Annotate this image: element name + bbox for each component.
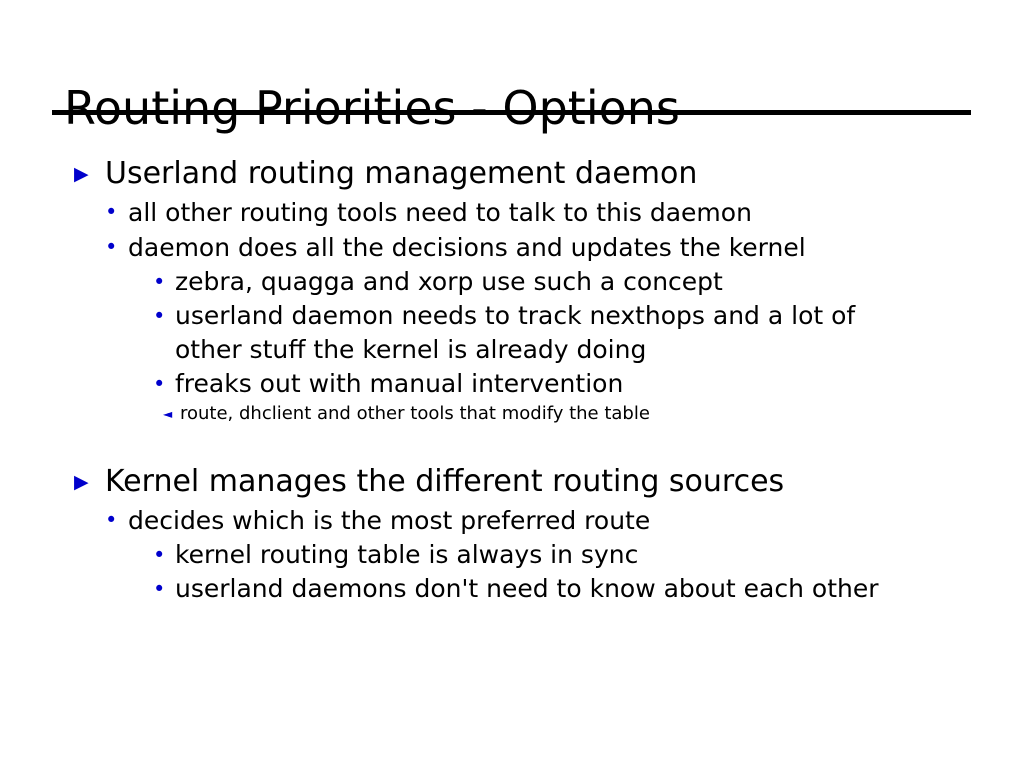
bullet-level2: • daemon does all the decisions and upda…	[0, 230, 1024, 265]
dot-bullet-icon: •	[105, 503, 117, 538]
dot-bullet-icon: •	[153, 538, 165, 572]
bullet-text: route, dhclient and other tools that mod…	[180, 401, 904, 427]
group-spacer	[0, 427, 1024, 463]
bullet-text: decides which is the most preferred rout…	[128, 503, 964, 538]
bullet-text: all other routing tools need to talk to …	[128, 195, 964, 230]
dot-bullet-icon: •	[105, 230, 117, 265]
dot-bullet-icon: •	[153, 367, 165, 401]
slide-canvas: Routing Priorities - Options ▶ Userland …	[0, 0, 1024, 768]
bullet-level3: • kernel routing table is always in sync	[0, 538, 1024, 572]
bullet-text: Userland routing management daemon	[105, 155, 984, 193]
bullet-level4: ◄ route, dhclient and other tools that m…	[0, 401, 1024, 427]
bullet-level3: • zebra, quagga and xorp use such a conc…	[0, 265, 1024, 299]
bullet-text: kernel routing table is always in sync	[175, 538, 904, 572]
triangle-right-icon: ▶	[74, 155, 89, 193]
title-underline-rule	[52, 110, 971, 115]
bullet-level1: ▶ Userland routing management daemon	[0, 155, 1024, 193]
bullet-level1: ▶ Kernel manages the different routing s…	[0, 463, 1024, 501]
triangle-left-icon: ◄	[163, 401, 172, 427]
page-title: Routing Priorities - Options	[64, 81, 680, 135]
bullet-text: userland daemons don't need to know abou…	[175, 572, 904, 606]
bullet-level2: • decides which is the most preferred ro…	[0, 503, 1024, 538]
bullet-text: freaks out with manual intervention	[175, 367, 904, 401]
dot-bullet-icon: •	[105, 195, 117, 230]
bullet-text: daemon does all the decisions and update…	[128, 230, 964, 265]
bullet-level3: • userland daemon needs to track nexthop…	[0, 299, 1024, 367]
bullet-level2: • all other routing tools need to talk t…	[0, 195, 1024, 230]
dot-bullet-icon: •	[153, 299, 165, 333]
dot-bullet-icon: •	[153, 572, 165, 606]
bullet-text: zebra, quagga and xorp use such a concep…	[175, 265, 904, 299]
bullet-level3: • userland daemons don't need to know ab…	[0, 572, 1024, 606]
slide-body: ▶ Userland routing management daemon • a…	[0, 155, 1024, 606]
triangle-right-icon: ▶	[74, 463, 89, 501]
bullet-level3: • freaks out with manual intervention	[0, 367, 1024, 401]
dot-bullet-icon: •	[153, 265, 165, 299]
bullet-text: userland daemon needs to track nexthops …	[175, 299, 904, 367]
bullet-text: Kernel manages the different routing sou…	[105, 463, 984, 501]
